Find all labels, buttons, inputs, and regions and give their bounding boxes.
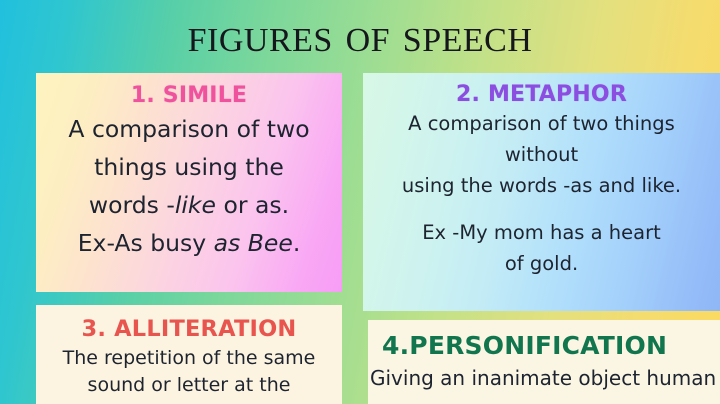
card-personification: 4.PERSONIFICATION Giving an inanimate ob… (368, 320, 720, 404)
poster-canvas: Figures of Speech 1. SIMILE A comparison… (0, 0, 720, 404)
card-metaphor-line-5: of gold. (363, 248, 720, 279)
card-metaphor: 2. METAPHOR A comparison of two things w… (363, 73, 720, 311)
line4-post: . (293, 229, 300, 257)
title-bar: Figures of Speech (0, 0, 720, 70)
card-simile: 1. SIMILE A comparison of two things usi… (36, 73, 342, 292)
line4-italic: as Bee (214, 229, 293, 257)
line3-pre: words - (89, 191, 175, 219)
card-personification-heading: 4.PERSONIFICATION (368, 331, 720, 360)
card-alliteration-heading: 3. ALLITERATION (36, 316, 342, 342)
card-metaphor-line-4: Ex -My mom has a heart (363, 217, 720, 248)
card-personification-body: Giving an inanimate object human (368, 364, 720, 392)
page-title: Figures of Speech (188, 10, 533, 59)
line3-post: or as. (216, 191, 289, 219)
card-metaphor-heading: 2. METAPHOR (363, 82, 720, 107)
card-metaphor-line-3: using the words -as and like. (363, 170, 720, 201)
line4-pre: Ex-As busy (78, 229, 214, 257)
line3-italic: like (175, 191, 216, 219)
card-alliteration: 3. ALLITERATION The repetition of the sa… (36, 305, 342, 404)
card-metaphor-line-2: without (363, 139, 720, 170)
card-personification-line-1: Giving an inanimate object human (370, 364, 720, 392)
card-simile-body: A comparison of two things using the wor… (36, 110, 342, 262)
card-metaphor-line-1: A comparison of two things (363, 108, 720, 139)
card-simile-line-1: A comparison of two (36, 110, 342, 148)
card-metaphor-spacer (363, 201, 720, 217)
card-alliteration-line-2: sound or letter at the (36, 372, 342, 399)
card-simile-line-2: things using the (36, 148, 342, 186)
card-simile-line-3: words -like or as. (36, 186, 342, 224)
card-simile-heading: 1. SIMILE (36, 83, 342, 108)
card-metaphor-body: A comparison of two things without using… (363, 108, 720, 279)
card-alliteration-line-1: The repetition of the same (36, 345, 342, 372)
card-simile-line-4: Ex-As busy as Bee. (36, 224, 342, 262)
card-alliteration-body: The repetition of the same sound or lett… (36, 345, 342, 399)
